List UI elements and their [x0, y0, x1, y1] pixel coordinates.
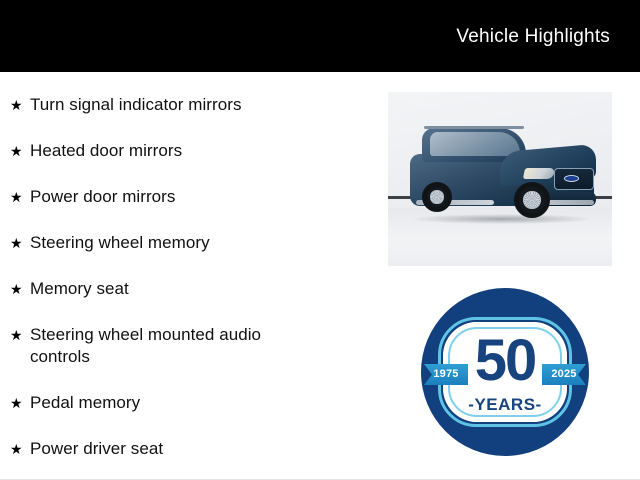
- list-item: ★ Heated door mirrors: [0, 140, 370, 162]
- star-bullet-icon: ★: [10, 324, 30, 346]
- suv-glass: [430, 132, 520, 156]
- list-item-label: Power door mirrors: [30, 186, 320, 208]
- list-item: ★ Turn signal indicator mirrors: [0, 94, 370, 116]
- star-bullet-icon: ★: [10, 232, 30, 254]
- star-bullet-icon: ★: [10, 438, 30, 460]
- suv-front-wheel: [514, 182, 550, 218]
- highlights-list: ★ Turn signal indicator mirrors ★ Heated…: [0, 72, 370, 460]
- suv-illustration: [404, 118, 600, 236]
- list-item: ★ Power door mirrors: [0, 186, 370, 208]
- list-item: ★ Power driver seat: [0, 438, 370, 460]
- star-bullet-icon: ★: [10, 186, 30, 208]
- anniversary-badge: 1975 2025 50 -YEARS-: [421, 288, 589, 456]
- list-item-label: Heated door mirrors: [30, 140, 320, 162]
- list-item-label: Memory seat: [30, 278, 320, 300]
- ford-emblem-icon: [564, 175, 579, 182]
- content-area: ★ Turn signal indicator mirrors ★ Heated…: [0, 72, 640, 480]
- suv-rear-rim: [430, 190, 443, 203]
- list-item-label: Steering wheel memory: [30, 232, 320, 254]
- star-bullet-icon: ★: [10, 94, 30, 116]
- badge-number: 50: [421, 332, 589, 390]
- vehicle-highlights-page: Vehicle Highlights ★ Turn signal indicat…: [0, 0, 640, 480]
- page-title: Vehicle Highlights: [456, 27, 610, 46]
- suv-shadow: [412, 214, 592, 224]
- header-bar: Vehicle Highlights: [0, 0, 640, 72]
- suv-front-rim: [523, 191, 540, 208]
- list-item-label: Power driver seat: [30, 438, 320, 460]
- list-item-label: Turn signal indicator mirrors: [30, 94, 320, 116]
- suv-headlight: [523, 168, 555, 179]
- list-item: ★ Steering wheel mounted audio controls: [0, 324, 370, 368]
- suv-rear-wheel: [422, 182, 452, 212]
- star-bullet-icon: ★: [10, 140, 30, 162]
- media-column: 1975 2025 50 -YEARS-: [370, 72, 640, 480]
- list-item-label: Pedal memory: [30, 392, 320, 414]
- list-item: ★ Steering wheel memory: [0, 232, 370, 254]
- badge-years-label: -YEARS-: [421, 396, 589, 413]
- list-item: ★ Memory seat: [0, 278, 370, 300]
- star-bullet-icon: ★: [10, 392, 30, 414]
- vehicle-photo: [388, 92, 612, 266]
- suv-roof-rail: [424, 126, 524, 129]
- list-item: ★ Pedal memory: [0, 392, 370, 414]
- star-bullet-icon: ★: [10, 278, 30, 300]
- list-item-label: Steering wheel mounted audio controls: [30, 324, 320, 368]
